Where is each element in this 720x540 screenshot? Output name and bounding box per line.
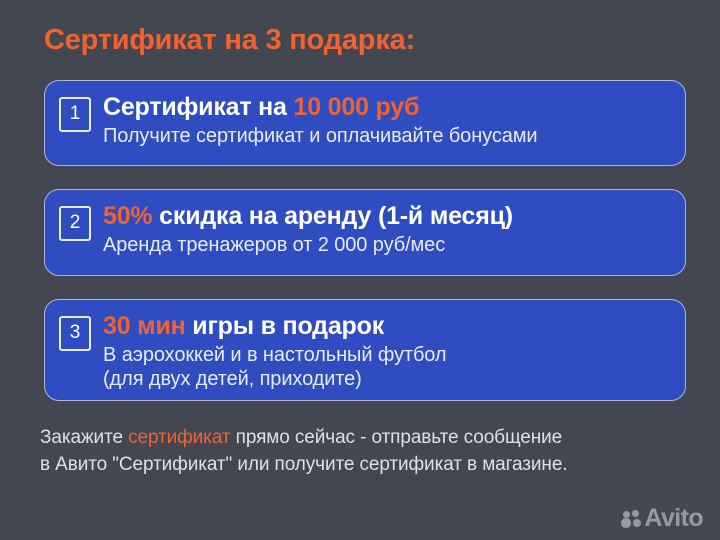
offer-card-2: 2 50% скидка на аренду (1-й месяц) Аренд… xyxy=(44,189,686,276)
offer-headline: 30 мин игры в подарок xyxy=(103,312,671,341)
footer-note-line-1: Закажите сертификат прямо сейчас - отпра… xyxy=(40,425,700,452)
offer-subline-secondary: (для двух детей, приходите) xyxy=(103,367,671,391)
offer-subline: Аренда тренажеров от 2 000 руб/мес xyxy=(103,233,671,257)
footer-text-b: прямо сейчас - отправьте сообщение xyxy=(230,427,562,448)
promo-poster: Сертификат на 3 подарка: 1 Сертификат на… xyxy=(0,0,720,540)
page-title: Сертификат на 3 подарка: xyxy=(44,24,415,57)
offer-headline-plain: игры в подарок xyxy=(186,312,384,340)
offer-number-badge: 3 xyxy=(59,316,91,351)
offer-card-body: 50% скидка на аренду (1-й месяц) Аренда … xyxy=(103,201,671,257)
footer-note: Закажите сертификат прямо сейчас - отпра… xyxy=(40,425,700,479)
offer-headline-plain: скидка на аренду (1-й месяц) xyxy=(152,202,512,230)
offer-headline-plain: Сертификат на xyxy=(103,93,294,121)
offer-headline: Сертификат на 10 000 руб xyxy=(103,93,671,122)
offer-headline: 50% скидка на аренду (1-й месяц) xyxy=(103,202,671,231)
footer-text-accent: сертификат xyxy=(128,427,230,448)
offer-headline-accent: 10 000 руб xyxy=(294,93,420,121)
offer-subline: В аэрохоккей и в настольный футбол xyxy=(103,343,671,367)
avito-wordmark: Avito xyxy=(644,506,703,531)
offer-subline: Получите сертификат и оплачивайте бонуса… xyxy=(103,124,671,148)
offer-card-1: 1 Сертификат на 10 000 руб Получите серт… xyxy=(44,80,686,166)
offer-number-badge: 2 xyxy=(59,206,91,241)
offer-card-body: Сертификат на 10 000 руб Получите сертиф… xyxy=(103,92,671,148)
offer-headline-accent: 30 мин xyxy=(103,312,186,340)
footer-note-line-2: в Авито "Сертификат" или получите сертиф… xyxy=(40,452,700,479)
avito-watermark: Avito xyxy=(621,506,703,531)
offer-card-body: 30 мин игры в подарок В аэрохоккей и в н… xyxy=(103,311,671,391)
offer-card-3: 3 30 мин игры в подарок В аэрохоккей и в… xyxy=(44,299,686,401)
footer-text-a: Закажите xyxy=(40,427,128,448)
avito-logo-icon xyxy=(621,508,642,529)
offer-number-badge: 1 xyxy=(59,97,91,132)
offer-headline-accent: 50% xyxy=(103,202,152,230)
